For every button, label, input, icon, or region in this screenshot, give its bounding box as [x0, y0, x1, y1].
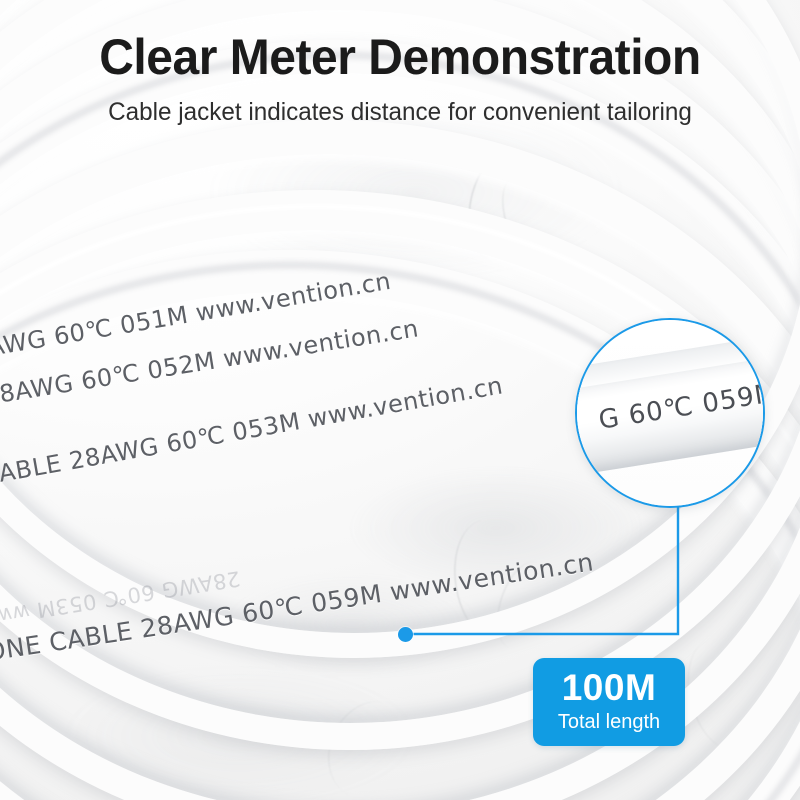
magnifier-content: G 60℃ 059M — [577, 320, 763, 506]
badge-label: Total length — [558, 709, 660, 735]
callout-anchor-dot[interactable] — [398, 627, 413, 642]
header: Clear Meter Demonstration Cable jacket i… — [0, 0, 800, 150]
total-length-badge[interactable]: 100M Total length — [533, 658, 685, 746]
magnifier-circle[interactable]: G 60℃ 059M — [575, 318, 765, 508]
product-feature-image: AWG 60℃ 051M www.vention.cn 28AWG 60℃ 05… — [0, 0, 800, 800]
badge-value: 100M — [562, 669, 657, 707]
page-title: Clear Meter Demonstration — [16, 0, 784, 86]
page-subtitle: Cable jacket indicates distance for conv… — [12, 86, 788, 128]
